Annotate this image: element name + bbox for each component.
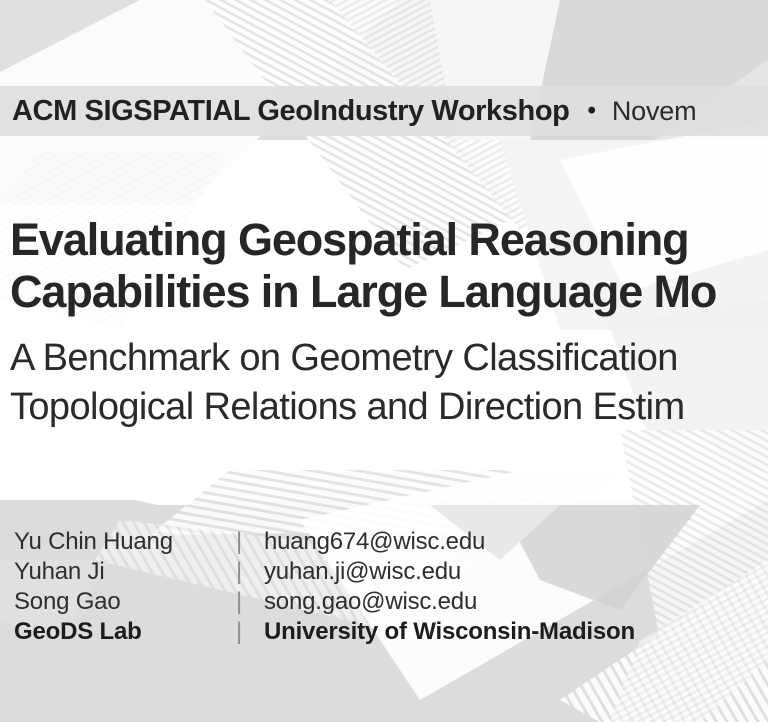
author-row: Yuhan Ji | yuhan.ji@wisc.edu	[14, 558, 714, 588]
conference-name: ACM SIGSPATIAL GeoIndustry Workshop	[12, 95, 569, 128]
title-line-2: Capabilities in Large Language Mo	[10, 266, 768, 318]
conference-header: ACM SIGSPATIAL GeoIndustry Workshop • No…	[12, 88, 768, 134]
author-row: Yu Chin Huang | huang674@wisc.edu	[14, 528, 714, 558]
author-email: song.gao@wisc.edu	[264, 588, 477, 616]
author-email: huang674@wisc.edu	[264, 528, 485, 556]
subtitle-line-1: A Benchmark on Geometry Classification	[10, 334, 768, 383]
affiliation-row: GeoDS Lab | University of Wisconsin-Madi…	[14, 618, 714, 648]
author-separator: |	[218, 558, 264, 586]
author-separator: |	[218, 618, 264, 646]
university-name: University of Wisconsin-Madison	[264, 618, 635, 646]
author-separator: |	[218, 588, 264, 616]
author-name: Song Gao	[14, 588, 218, 616]
author-name: Yu Chin Huang	[14, 528, 218, 556]
author-separator: |	[218, 528, 264, 556]
author-list: Yu Chin Huang | huang674@wisc.edu Yuhan …	[14, 528, 714, 648]
header-bullet-separator: •	[587, 99, 595, 123]
slide-title: Evaluating Geospatial Reasoning Capabili…	[10, 214, 768, 318]
presentation-title-slide: ACM SIGSPATIAL GeoIndustry Workshop • No…	[0, 0, 768, 722]
conference-date: Novem	[612, 96, 697, 127]
author-row: Song Gao | song.gao@wisc.edu	[14, 588, 714, 618]
subtitle-line-2: Topological Relations and Direction Esti…	[10, 383, 768, 432]
author-email: yuhan.ji@wisc.edu	[264, 558, 461, 586]
lab-name: GeoDS Lab	[14, 618, 218, 646]
title-line-1: Evaluating Geospatial Reasoning	[10, 214, 768, 266]
slide-subtitle: A Benchmark on Geometry Classification T…	[10, 334, 768, 432]
author-name: Yuhan Ji	[14, 558, 218, 586]
